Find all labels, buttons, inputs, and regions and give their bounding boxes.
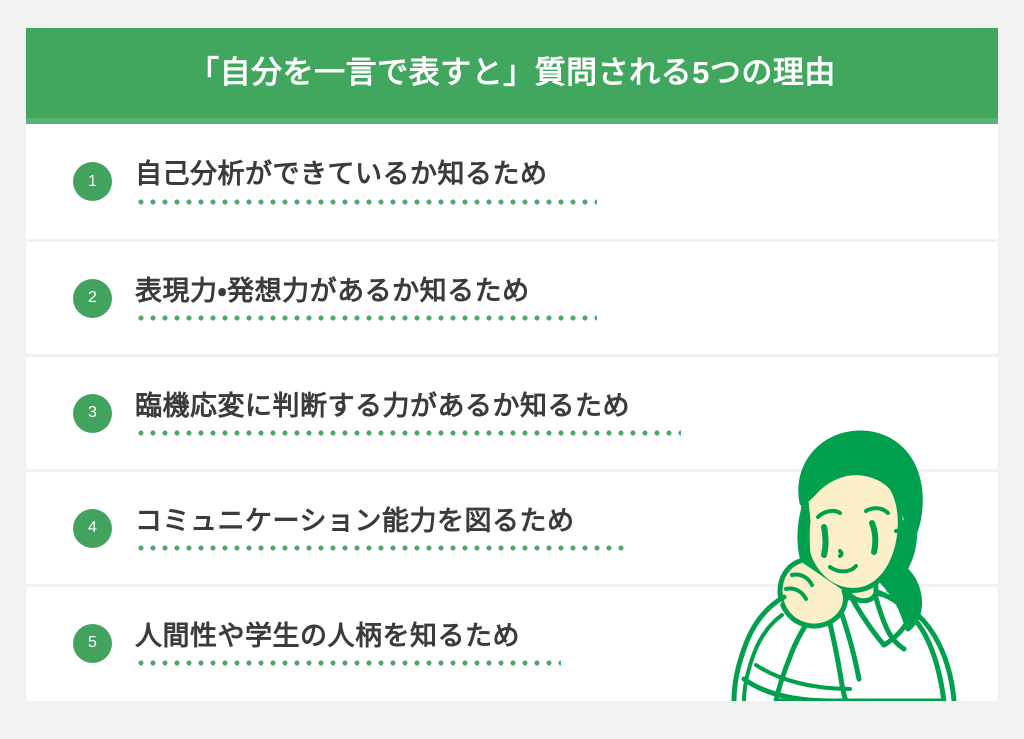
list-item-number-badge: 1 [73, 162, 112, 201]
list-item-label: 表現力・発想力があるか知るため [135, 275, 597, 309]
page-title: 「自分を一言で表すと」質問される5つの理由 [188, 54, 836, 91]
reasons-card: 「自分を一言で表すと」質問される5つの理由 1 自己分析ができているか知るため … [26, 28, 998, 701]
list-item-number-badge: 2 [73, 279, 112, 318]
list-item-number-badge: 5 [73, 624, 112, 663]
dotted-underline [135, 430, 681, 436]
dotted-underline [135, 315, 597, 321]
list-item-body: コミュニケーション能力を図るため [135, 505, 627, 552]
list-item-label: 自己分析ができているか知るため [135, 158, 597, 192]
list-item-number-badge: 4 [73, 509, 112, 548]
dotted-underline [135, 660, 561, 666]
list-item-body: 臨機応変に判断する力があるか知るため [135, 390, 681, 437]
dotted-underline [135, 199, 597, 205]
card-header: 「自分を一言で表すと」質問される5つの理由 [26, 28, 998, 118]
dotted-underline [135, 545, 627, 551]
list-item[interactable]: 4 コミュニケーション能力を図るため [26, 469, 998, 584]
list-item-label: 臨機応変に判断する力があるか知るため [135, 390, 681, 424]
list-item[interactable]: 5 人間性や学生の人柄を知るため [26, 584, 998, 699]
list-item-body: 人間性や学生の人柄を知るため [135, 620, 561, 667]
list-item-label: 人間性や学生の人柄を知るため [135, 620, 561, 654]
list-item-label: コミュニケーション能力を図るため [135, 505, 627, 539]
list-item[interactable]: 1 自己分析ができているか知るため [26, 124, 998, 239]
list-item-number-badge: 3 [73, 394, 112, 433]
list-item-body: 表現力・発想力があるか知るため [135, 275, 597, 322]
reasons-list: 1 自己分析ができているか知るため 2 表現力・発想力があるか知るため 3 臨機… [26, 124, 998, 701]
list-item-body: 自己分析ができているか知るため [135, 158, 597, 205]
list-item[interactable]: 3 臨機応変に判断する力があるか知るため [26, 354, 998, 469]
page-root: 「自分を一言で表すと」質問される5つの理由 1 自己分析ができているか知るため … [0, 0, 1024, 739]
list-item[interactable]: 2 表現力・発想力があるか知るため [26, 239, 998, 354]
